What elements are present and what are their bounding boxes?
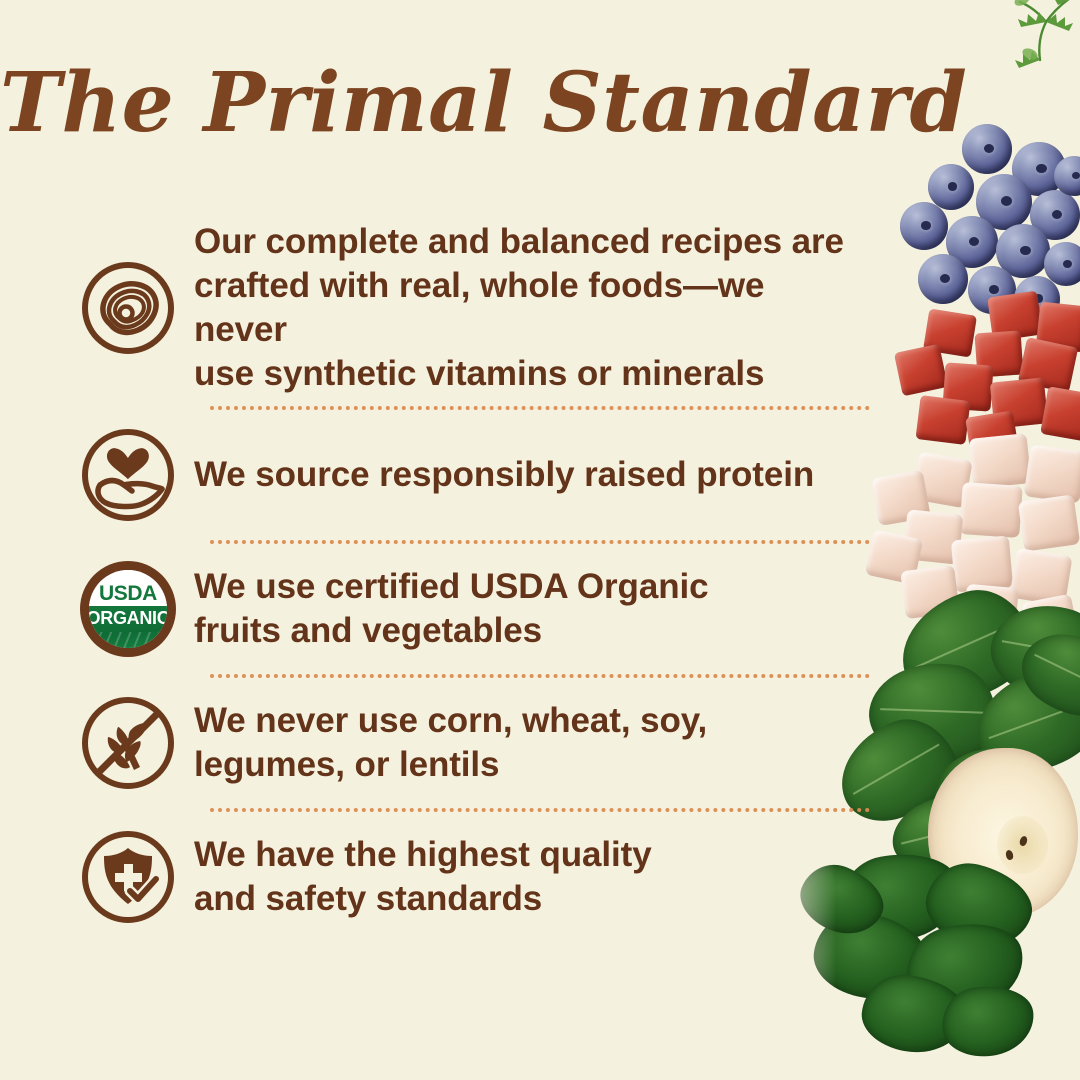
page-title: The Primal Standard [0, 62, 900, 144]
standard-line: We source responsibly raised protein [194, 453, 866, 497]
herb-sprig-image [960, 0, 1080, 72]
spinach-leaves-image [852, 600, 1080, 850]
standard-row-quality-safety: We have the highest quality and safety s… [62, 814, 872, 940]
shield-check-icon [62, 827, 194, 927]
organic-label: ORGANIC [89, 606, 167, 627]
chicken-cubes-image [875, 440, 1080, 620]
primal-standard-infographic: The Primal Standard Our complete and bal… [0, 0, 1080, 1080]
apple-half-image [928, 748, 1078, 918]
no-grain-icon [62, 693, 194, 793]
standard-line: We use certified USDA Organic [194, 565, 866, 609]
standard-row-usda-organic: USDA ORGANIC We use certified USDA Organ… [62, 546, 872, 672]
standards-list: Our complete and balanced recipes are cr… [62, 212, 872, 940]
standard-line: We have the highest quality [194, 833, 866, 877]
standard-text-usda-organic: We use certified USDA Organic fruits and… [194, 565, 872, 653]
beef-cubes-image [888, 298, 1080, 458]
standard-line: fruits and vegetables [194, 609, 866, 653]
standard-line: Our complete and balanced recipes are [194, 220, 866, 264]
usda-organic-seal-icon: USDA ORGANIC [62, 561, 194, 657]
standard-text-quality-safety: We have the highest quality and safety s… [194, 833, 872, 921]
divider [210, 674, 870, 678]
hand-holding-heart-icon [62, 425, 194, 525]
standard-line: use synthetic vitamins or minerals [194, 352, 866, 396]
standard-text-no-grains: We never use corn, wheat, soy, legumes, … [194, 699, 872, 787]
usda-label: USDA [99, 583, 157, 606]
standard-line: crafted with real, whole foods—we never [194, 264, 866, 352]
standard-row-whole-foods: Our complete and balanced recipes are cr… [62, 212, 872, 404]
divider [210, 540, 870, 544]
usda-seal-top: USDA [89, 570, 167, 606]
standard-row-responsible-protein: We source responsibly raised protein [62, 412, 872, 538]
usda-seal-bottom: ORGANIC [89, 606, 167, 648]
divider [210, 808, 870, 812]
blueberries-image [884, 120, 1080, 330]
standard-line: legumes, or lentils [194, 743, 866, 787]
standard-line: We never use corn, wheat, soy, [194, 699, 866, 743]
standard-text-whole-foods: Our complete and balanced recipes are cr… [194, 220, 872, 396]
apple-core [997, 816, 1048, 874]
standard-row-no-grains: We never use corn, wheat, soy, legumes, … [62, 680, 872, 806]
meat-cut-icon [62, 258, 194, 358]
standard-text-responsible-protein: We source responsibly raised protein [194, 453, 872, 497]
divider [210, 406, 870, 410]
standard-line: and safety standards [194, 877, 866, 921]
